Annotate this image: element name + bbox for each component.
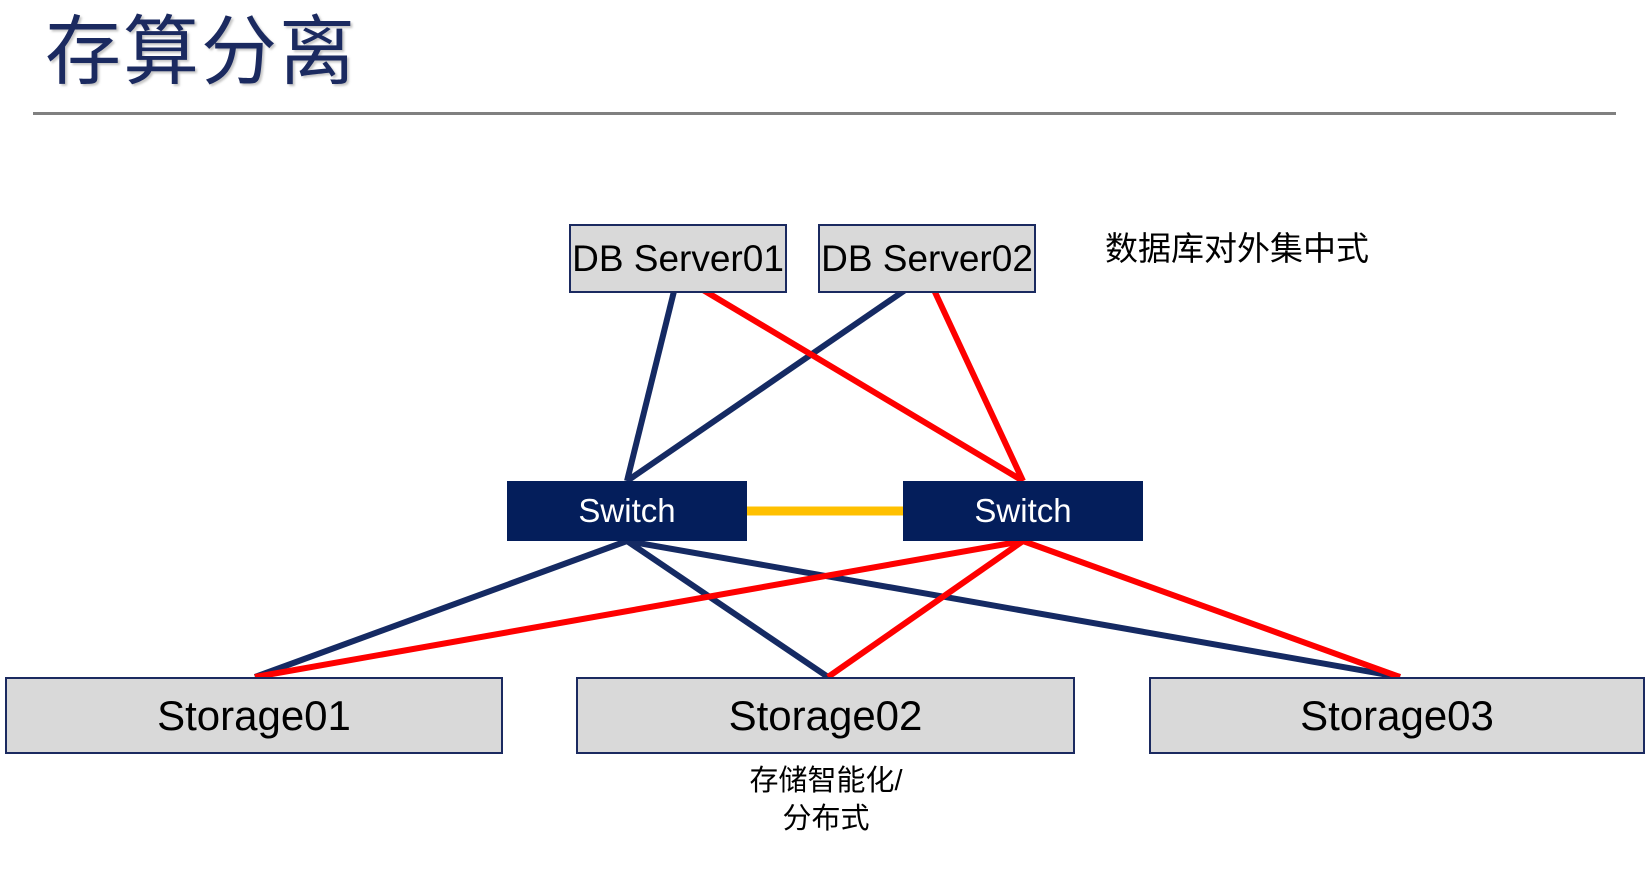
node-label: Storage02 [729, 692, 923, 740]
annotation-database: 数据库对外集中式 [1105, 226, 1369, 272]
node-label: DB Server01 [572, 238, 784, 280]
node-label: Storage03 [1300, 692, 1494, 740]
node-switch-2[interactable]: Switch [903, 481, 1143, 541]
slide-canvas: 存算分离 DB Server01 DB Server02 Switch Swit… [0, 0, 1648, 886]
annotation-storage-line-2: 分布式 [611, 800, 1041, 838]
annotation-storage: 存储智能化/ 分布式 [611, 762, 1041, 838]
edge-sw1-st3 [627, 541, 1400, 677]
node-label: DB Server02 [821, 238, 1033, 280]
node-db-server-02[interactable]: DB Server02 [818, 224, 1036, 293]
edge-sw2-st2 [828, 541, 1023, 677]
edge-sw2-st1 [255, 541, 1023, 677]
edge-sw2-st3 [1023, 541, 1400, 677]
node-label: Switch [974, 492, 1071, 530]
node-switch-1[interactable]: Switch [507, 481, 747, 541]
node-storage-02[interactable]: Storage02 [576, 677, 1075, 754]
node-db-server-01[interactable]: DB Server01 [569, 224, 787, 293]
node-label: Storage01 [157, 692, 351, 740]
node-storage-03[interactable]: Storage03 [1149, 677, 1645, 754]
annotation-storage-line-1: 存储智能化/ [611, 762, 1041, 800]
edge-sw1-st1 [255, 541, 627, 677]
node-label: Switch [578, 492, 675, 530]
edge-db1-sw2 [678, 275, 1023, 481]
node-storage-01[interactable]: Storage01 [5, 677, 503, 754]
